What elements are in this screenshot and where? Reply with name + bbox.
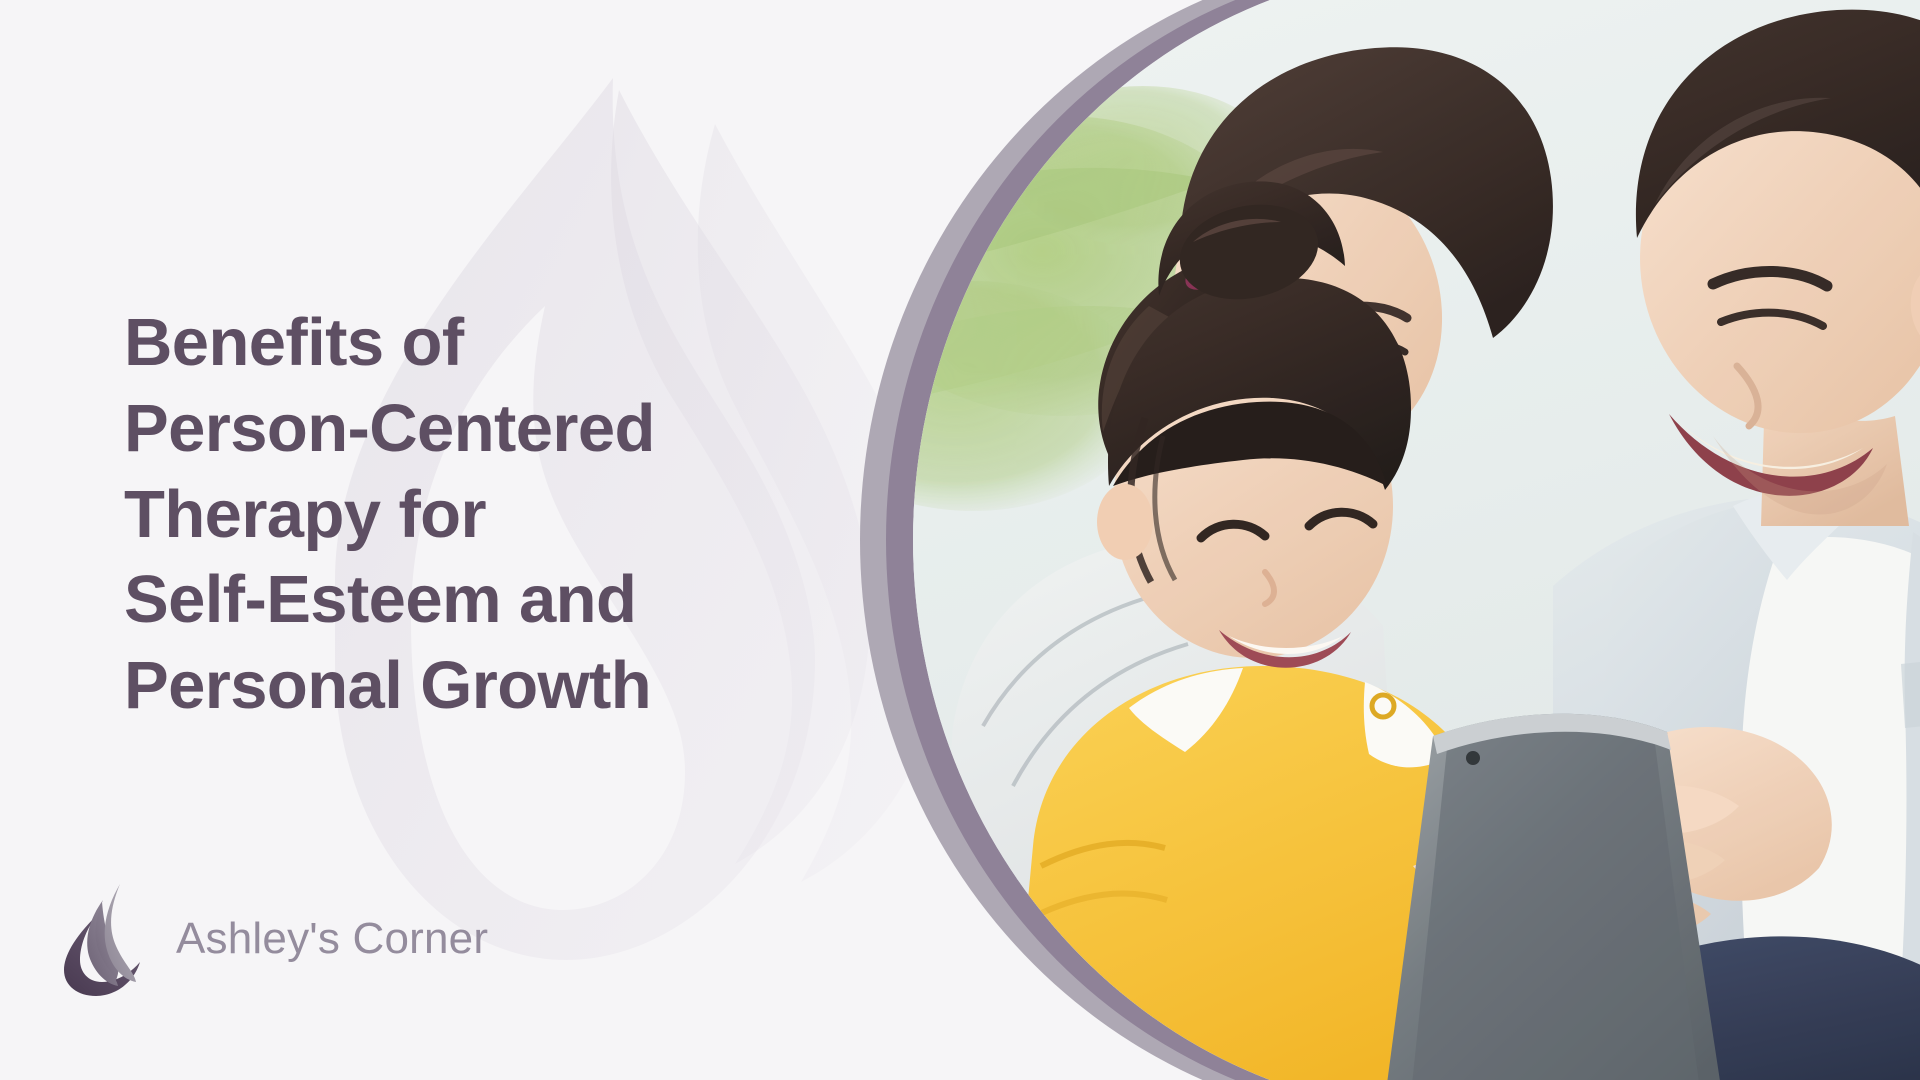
brand-name: Ashley's Corner	[176, 914, 488, 964]
page-title: Benefits of Person-Centered Therapy for …	[124, 300, 884, 729]
hero-photo-frame: Smiling family — mother, father and youn…	[913, 0, 1920, 1080]
brand-lockup[interactable]: Ashley's Corner	[62, 880, 488, 998]
blog-banner: Benefits of Person-Centered Therapy for …	[0, 0, 1920, 1080]
hero-photo-panel: Smiling family — mother, father and youn…	[860, 0, 1920, 1080]
flame-droplet-icon	[62, 880, 150, 998]
hero-photo	[913, 0, 1920, 1080]
title-block: Benefits of Person-Centered Therapy for …	[124, 300, 884, 729]
